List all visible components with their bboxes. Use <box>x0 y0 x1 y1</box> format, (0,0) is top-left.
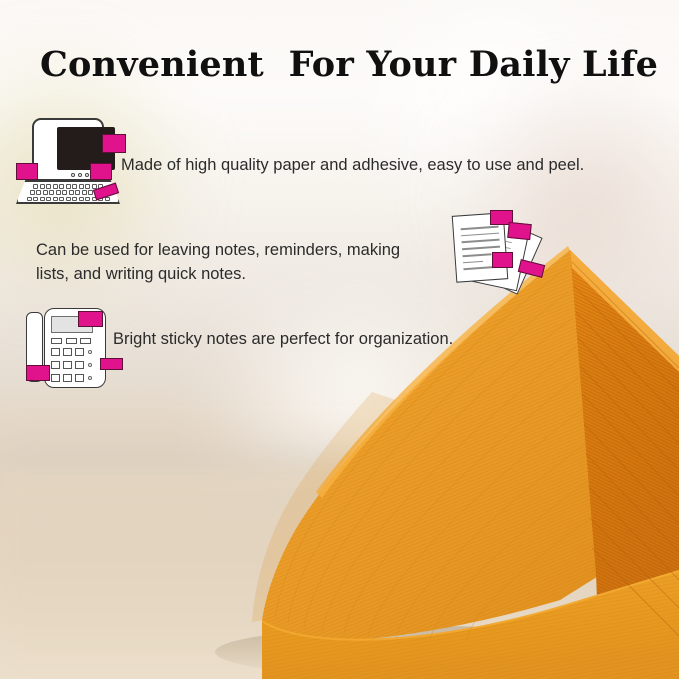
laptop-icon <box>16 118 126 204</box>
paper-stack-sheet-lines <box>275 268 594 641</box>
background-horizon-line <box>0 430 679 520</box>
feature-text-quality: Made of high quality paper and adhesive,… <box>121 153 584 177</box>
telephone-keypad <box>51 348 99 382</box>
sticky-note-icon <box>90 163 112 180</box>
sticky-note-icon <box>16 163 38 180</box>
page-title: Convenient For Your Daily Life <box>40 44 658 86</box>
sticky-note-icon <box>492 252 513 268</box>
feature-text-organization: Bright sticky notes are perfect for orga… <box>113 327 453 351</box>
paper-stack-right-lines <box>572 262 679 636</box>
paper-stack-front-face <box>262 250 600 642</box>
telephone-icon <box>26 308 122 388</box>
sticky-note-icon <box>100 358 123 370</box>
sticky-note-icon <box>102 134 126 153</box>
background-blob-top <box>330 0 660 240</box>
sticky-note-icon <box>78 311 103 327</box>
paper-stack-right-face <box>570 250 679 679</box>
documents-icon <box>452 210 550 298</box>
sticky-note-icon <box>507 222 532 240</box>
sticky-note-icon <box>26 365 50 381</box>
product-feature-poster: Convenient For Your Daily Life Made of h… <box>0 0 679 679</box>
feature-text-usage: Can be used for leaving notes, reminders… <box>36 238 456 286</box>
background-desk-surface <box>0 468 679 679</box>
paper-stack-bottom-edge <box>262 570 679 679</box>
telephone-soft-keys <box>51 338 91 344</box>
